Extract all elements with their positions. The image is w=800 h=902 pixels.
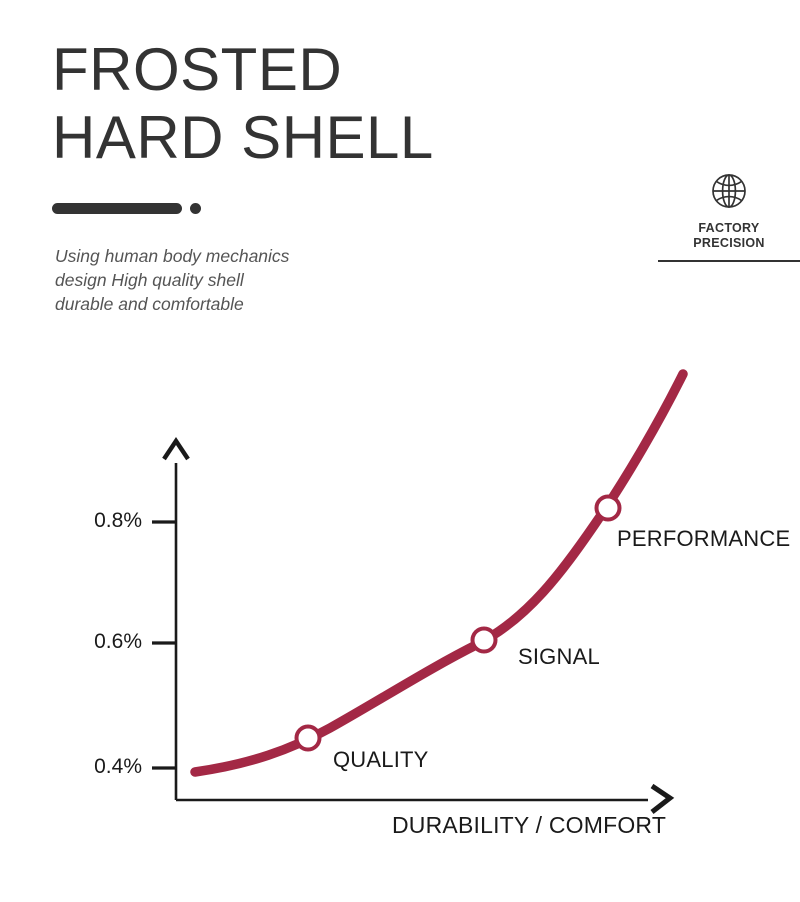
- data-label-quality: QUALITY: [333, 747, 429, 773]
- x-axis-title: DURABILITY / COMFORT: [392, 812, 666, 839]
- exponential-growth-chart: 0.8% 0.6% 0.4% QUALITY SIGNAL PERFORMANC…: [0, 0, 800, 902]
- y-tick-label-0.6: 0.6%: [52, 630, 142, 654]
- growth-curve: [195, 374, 683, 772]
- y-axis-arrow-icon: [164, 441, 188, 459]
- data-point-quality: [297, 727, 320, 750]
- data-label-signal: SIGNAL: [518, 644, 600, 670]
- x-axis-arrow-icon: [652, 786, 670, 812]
- data-label-performance: PERFORMANCE: [617, 526, 790, 552]
- infographic-page: FROSTED HARD SHELL Using human body mech…: [0, 0, 800, 902]
- data-point-performance: [597, 497, 620, 520]
- data-point-signal: [473, 629, 496, 652]
- y-tick-label-0.4: 0.4%: [52, 755, 142, 779]
- y-tick-label-0.8: 0.8%: [52, 509, 142, 533]
